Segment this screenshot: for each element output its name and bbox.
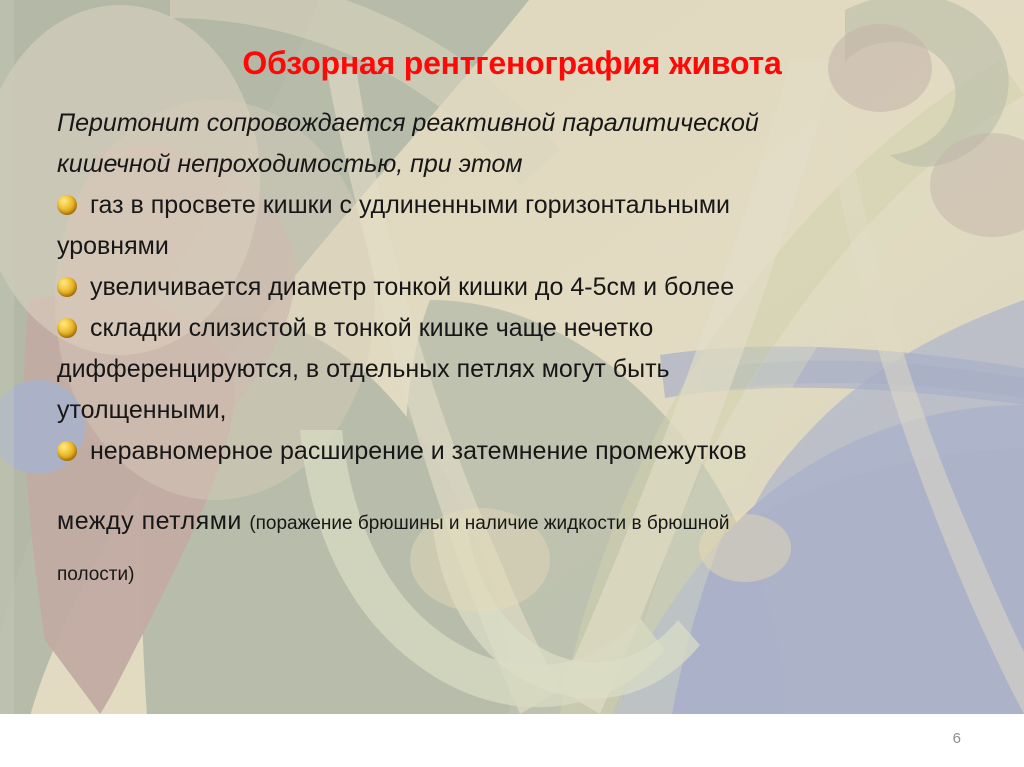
bullet-1-line-1: газ в просвете кишки с удлиненными гориз… xyxy=(83,191,730,219)
slide-content: Обзорная рентгенография живота Перитонит… xyxy=(0,0,1024,714)
gold-sphere-bullet-icon xyxy=(57,441,77,461)
bullet-item-3: складки слизистой в тонкой кишке чаще не… xyxy=(57,308,977,431)
gold-sphere-bullet-icon xyxy=(57,277,77,297)
page-number: 6 xyxy=(953,730,961,747)
intro-line-1: Перитонит сопровождается реактивной пара… xyxy=(57,109,759,137)
gold-sphere-bullet-icon xyxy=(57,318,77,338)
closing-note-line-1: (поражение брюшины и наличие жидкости в … xyxy=(249,513,729,534)
slide-viewer: Обзорная рентгенография живота Перитонит… xyxy=(0,0,1024,767)
slide-title: Обзорная рентгенография живота xyxy=(0,46,1024,81)
bullet-2-line-1: увеличивается диаметр тонкой кишки до 4-… xyxy=(83,273,734,301)
bullet-3-line-1: складки слизистой в тонкой кишке чаще не… xyxy=(83,314,653,342)
bullet-3-line-2: дифференцируются, в отдельных петлях мог… xyxy=(57,349,977,390)
closing-note-line-2: полости) xyxy=(57,564,134,585)
closing-line-1: между петлями (поражение брюшины и налич… xyxy=(57,497,977,548)
closing-emphasis: между петлями xyxy=(57,507,242,535)
slide-footer: 6 xyxy=(0,714,1024,767)
bullet-item-4: неравномерное расширение и затемнение пр… xyxy=(57,431,977,472)
slide-body: Перитонит сопровождается реактивной пара… xyxy=(57,103,977,472)
bullet-1-line-2: уровнями xyxy=(57,226,977,267)
bullet-item-1: газ в просвете кишки с удлиненными гориз… xyxy=(57,185,977,267)
intro-paragraph: Перитонит сопровождается реактивной пара… xyxy=(57,103,977,185)
closing-line-2: полости) xyxy=(57,548,977,599)
intro-line-2: кишечной непроходимостью, при этом xyxy=(57,144,977,185)
bullet-4-line-1: неравномерное расширение и затемнение пр… xyxy=(83,437,747,465)
presentation-slide: Обзорная рентгенография живота Перитонит… xyxy=(0,0,1024,714)
closing-block: между петлями (поражение брюшины и налич… xyxy=(57,497,977,599)
gold-sphere-bullet-icon xyxy=(57,195,77,215)
bullet-3-line-3: утолщенными, xyxy=(57,390,977,431)
bullet-item-2: увеличивается диаметр тонкой кишки до 4-… xyxy=(57,267,977,308)
